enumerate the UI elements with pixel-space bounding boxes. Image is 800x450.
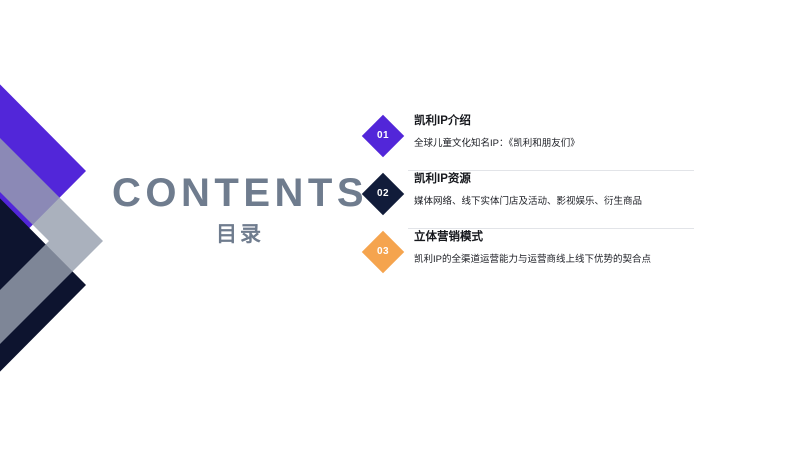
page-title: CONTENTS 目录	[110, 172, 370, 246]
list-item-description: 全球儿童文化知名IP：《凯利和朋友们》	[414, 138, 666, 149]
list-item[interactable]: 01 凯利IP介绍 全球儿童文化知名IP：《凯利和朋友们》	[366, 113, 666, 171]
list-item-text: 凯利IP介绍 全球儿童文化知名IP：《凯利和朋友们》	[414, 115, 666, 149]
list-item-description: 凯利IP的全渠道运营能力与运营商线上线下优势的契合点	[414, 254, 666, 265]
gray-chevron	[0, 98, 103, 384]
slide-canvas: CONTENTS 目录 01 凯利IP介绍 全球儿童文化知名IP：《凯利和朋友们…	[0, 0, 800, 450]
page-title-main: CONTENTS	[110, 172, 370, 214]
page-title-sub: 目录	[110, 223, 370, 246]
list-item[interactable]: 03 立体营销模式 凯利IP的全渠道运营能力与运营商线上线下优势的契合点	[366, 229, 666, 287]
diamond-badge-02: 02	[362, 173, 404, 215]
list-item[interactable]: 02 凯利IP资源 媒体网络、线下实体门店及活动、影视娱乐、衍生商品	[366, 171, 666, 229]
contents-list: 01 凯利IP介绍 全球儿童文化知名IP：《凯利和朋友们》 02 凯利IP资源 …	[366, 113, 666, 287]
list-item-description: 媒体网络、线下实体门店及活动、影视娱乐、衍生商品	[414, 196, 666, 207]
purple-triangle	[0, 44, 86, 298]
badge-number: 01	[377, 131, 389, 141]
chevron-graphic	[0, 0, 120, 450]
list-item-text: 立体营销模式 凯利IP的全渠道运营能力与运营商线上线下优势的契合点	[414, 231, 666, 265]
badge-number: 03	[377, 247, 389, 257]
list-item-title: 立体营销模式	[414, 231, 666, 245]
list-item-title: 凯利IP资源	[414, 173, 666, 187]
list-item-text: 凯利IP资源 媒体网络、线下实体门店及活动、影视娱乐、衍生商品	[414, 173, 666, 207]
diamond-badge-03: 03	[362, 231, 404, 273]
navy-triangle	[0, 158, 86, 412]
badge-number: 02	[377, 189, 389, 199]
diamond-badge-01: 01	[362, 115, 404, 157]
list-item-title: 凯利IP介绍	[414, 115, 666, 129]
